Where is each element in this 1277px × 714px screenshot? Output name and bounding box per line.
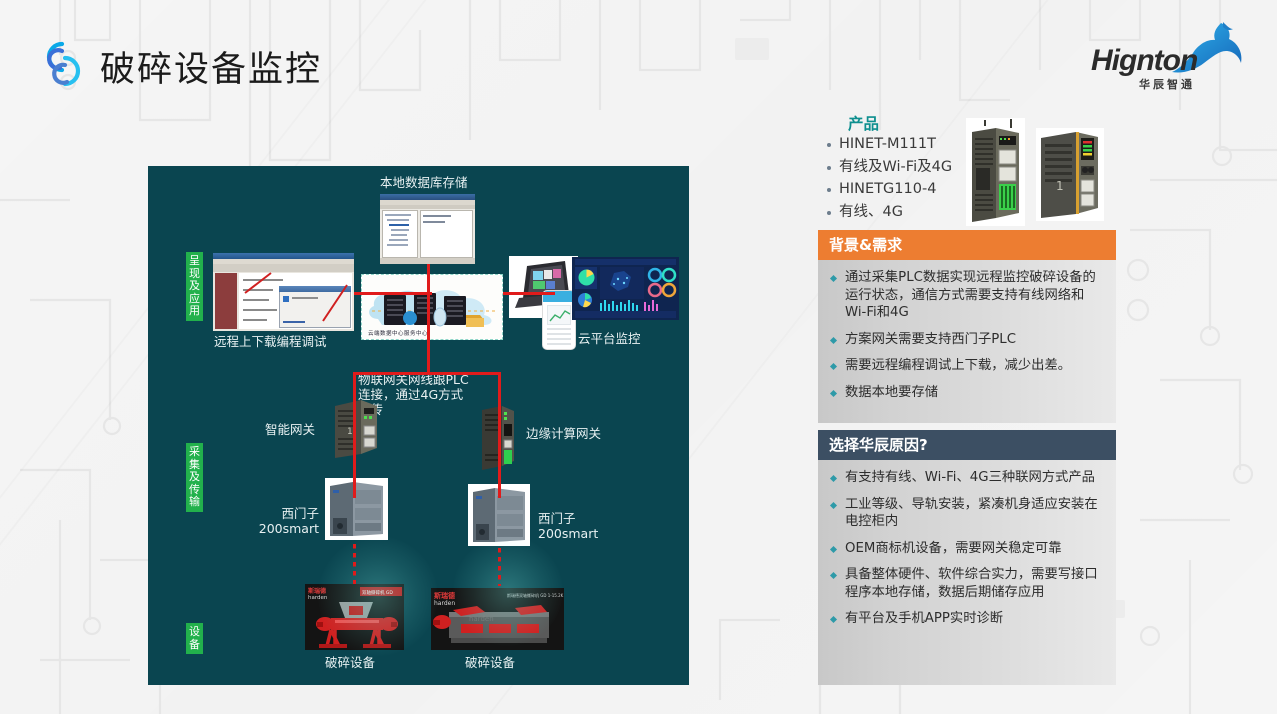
page-header: 破碎设备监控 Hignton 华辰智通 [0, 0, 1277, 118]
node-cloud-dashboard [572, 257, 679, 320]
wire-cloud-to-monitor [503, 292, 555, 295]
brand-chinese-name: 华辰智通 [1139, 76, 1195, 92]
node-label-remote-programming: 远程上下载编程调试 [214, 334, 327, 349]
reasons-panel-title: 选择华辰原因? [818, 430, 1116, 460]
node-label-plc-right: 西门子 200smart [538, 511, 598, 541]
reason-item-0: 有支持有线、Wi-Fi、4G三种联网方式产品 [826, 469, 1104, 487]
architecture-diagram: 呈​现​及​应​用 采​集​及​传​输 设​备 本地数据库存储 [148, 166, 689, 685]
linked-circles-logo-icon [36, 37, 88, 91]
wire-cloud-down [427, 338, 430, 374]
product-title: 产品 [848, 112, 879, 134]
wire-edge-gw-to-plc [498, 456, 501, 498]
device-smart-gateway [331, 566, 379, 626]
cloud-center-caption: 云端数据中心服务中心 [368, 329, 428, 337]
node-label-crusher-right: 破碎设备 [465, 655, 515, 670]
reason-item-4: 有平台及手机APP实时诊断 [826, 610, 1104, 628]
node-mobile-phone [542, 290, 576, 350]
node-label-plc-left: 西门子 200smart [243, 506, 319, 536]
wire-plc-to-crusher-right [498, 548, 501, 586]
wire-smart-gw-to-plc [353, 456, 356, 498]
node-label-edge-gateway: 边缘计算网关 [526, 426, 601, 441]
node-label-crusher-left: 破碎设备 [325, 655, 375, 670]
reason-item-3: 具备整体硬件、软件综合实力，需要写接口程序本地存储，数据后期储存应用 [826, 566, 1104, 601]
node-local-db-screenshot [380, 194, 475, 264]
reason-item-2: OEM商标机设备，需要网关稳定可靠 [826, 540, 1104, 558]
wire-gateway-bus [353, 372, 501, 375]
node-label-cloud-monitor: 云平台监控 [578, 331, 641, 346]
reasons-panel: 选择华辰原因? 有支持有线、Wi-Fi、4G三种联网方式产品 工业等级、导轨安装… [818, 430, 1116, 685]
background-requirements-panel: 背景&需求 通过采集PLC数据实现远程监控破碎设备的运行状态，通信方式需要支持有… [818, 230, 1116, 423]
layer-label-equipment: 设​备 [186, 623, 203, 654]
node-label-local-db: 本地数据库存储 [380, 175, 468, 190]
edge-gateway-glow [453, 536, 563, 646]
device-smart-gateway-body: 1 [331, 398, 383, 460]
background-item-3: 数据本地要存储 [826, 384, 1104, 402]
node-remote-programming-screenshot [213, 253, 354, 331]
layer-label-presentation: 呈​现​及​应​用 [186, 252, 203, 321]
device-plc-left [325, 478, 388, 540]
product-photo-hinetg110-4: 1 [1036, 128, 1104, 221]
reason-item-1: 工业等级、导轨安装，紧凑机身适应安装在电控柜内 [826, 496, 1104, 531]
layer-label-acquisition: 采​集​及​传​输 [186, 443, 203, 512]
svg-text:1: 1 [347, 427, 353, 437]
background-item-2: 需要远程编程调试上下载，减少出差。 [826, 357, 1104, 375]
wire-db-to-cloud [427, 264, 430, 338]
node-cloud-data-center: 云端数据中心服务中心 [361, 274, 503, 340]
reasons-panel-body: 有支持有线、Wi-Fi、4G三种联网方式产品 工业等级、导轨安装，紧凑机身适应安… [818, 460, 1116, 685]
background-item-1: 方案网关需要支持西门子PLC [826, 331, 1104, 349]
page-title: 破碎设备监控 [100, 41, 322, 92]
node-label-smart-gateway: 智能网关 [265, 422, 315, 437]
brand-wordmark: Hignton [1091, 44, 1197, 78]
wire-program-to-cloud [354, 292, 432, 295]
background-item-0: 通过采集PLC数据实现远程监控破碎设备的运行状态，通信方式需要支持有线网络和Wi… [826, 269, 1104, 322]
background-panel-title: 背景&需求 [818, 230, 1116, 260]
reasons-list: 有支持有线、Wi-Fi、4G三种联网方式产品 工业等级、导轨安装，紧凑机身适应安… [826, 469, 1104, 628]
background-panel-body: 通过采集PLC数据实现远程监控破碎设备的运行状态，通信方式需要支持有线网络和Wi… [818, 260, 1116, 423]
svg-text:1: 1 [1056, 179, 1064, 193]
brand-logo: Hignton 华辰智通 [1091, 22, 1241, 94]
product-photo-hinet-m111t [966, 118, 1025, 226]
background-requirements-list: 通过采集PLC数据实现远程监控破碎设备的运行状态，通信方式需要支持有线网络和Wi… [826, 269, 1104, 401]
